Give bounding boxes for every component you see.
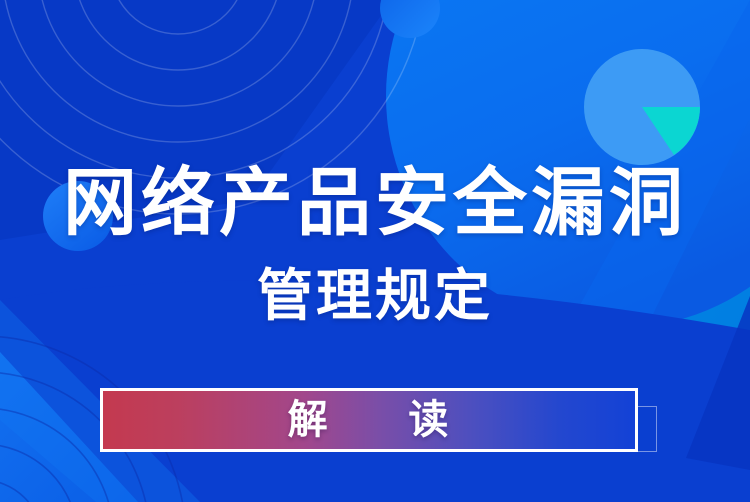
poster-canvas: 网络产品安全漏洞 管理规定 解 读 — [0, 0, 750, 502]
banner-box[interactable]: 解 读 — [100, 388, 638, 452]
pie-chart-circle — [584, 49, 700, 165]
page-title-main: 网络产品安全漏洞 — [0, 158, 750, 248]
banner-label: 解 读 — [288, 398, 451, 442]
page-title-sub: 管理规定 — [0, 262, 750, 330]
